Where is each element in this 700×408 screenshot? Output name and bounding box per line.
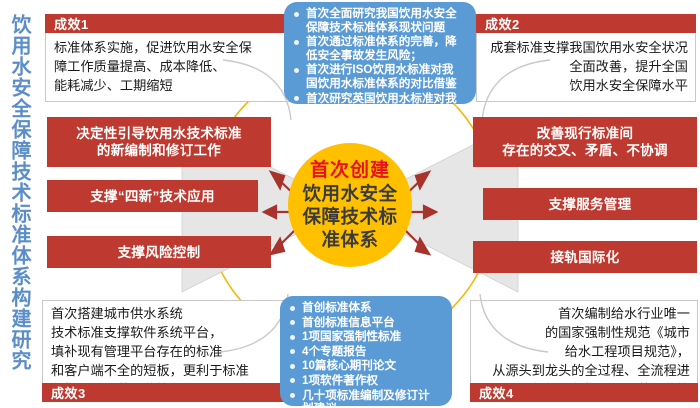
callout-1-text: 标准体系实施，促进饮用水安全保 障工作质量提高、成本降低、 能耗减少、工期缩短	[45, 36, 293, 97]
blue-panel-bottom-item-4: 4个专题报告	[286, 345, 446, 359]
page-title-vertical: 饮用水安全保障技术标准体系构建研究	[2, 14, 36, 396]
blue-panel-top: 首次全面研究我国饮用水安全 保障技术标准体系现状问题 首次通过标准体系的完善，降…	[284, 2, 476, 104]
blue-panel-bottom-item-5: 10篇核心期刊论文	[286, 359, 446, 373]
left-bar-1[interactable]: 决定性引导饮用水技术标准 的新编制和修订工作	[47, 117, 271, 167]
callout-1-header: 成效1	[45, 14, 293, 33]
left-bar-3[interactable]: 支撑风险控制	[47, 236, 271, 268]
callout-2-header: 成效2	[476, 14, 696, 33]
blue-panel-top-item-2: 首次通过标准体系的完善，降 低安全事故发生风险；	[290, 35, 470, 62]
blue-panel-bottom-item-6: 1项软件著作权	[286, 374, 446, 388]
blue-panel-top-list: 首次全面研究我国饮用水安全 保障技术标准体系现状问题 首次通过标准体系的完善，降…	[290, 7, 470, 119]
blue-panel-bottom: 首创标准体系 首创标准信息平台 1项国家强制性标准 4个专题报告 10篇核心期刊…	[280, 296, 452, 406]
blue-panel-bottom-item-1: 首创标准体系	[286, 301, 446, 315]
callout-result-2: 成效2 成套标准支撑我国饮用水安全状况 全面改善，提升全国 饮用水安全保障水平	[476, 14, 696, 102]
blue-panel-bottom-item-3: 1项国家强制性标准	[286, 330, 446, 344]
callout-2-text: 成套标准支撑我国饮用水安全状况 全面改善，提升全国 饮用水安全保障水平	[476, 36, 696, 97]
blue-panel-bottom-list: 首创标准体系 首创标准信息平台 1项国家强制性标准 4个专题报告 10篇核心期刊…	[286, 301, 446, 408]
blue-panel-bottom-item-2: 首创标准信息平台	[286, 316, 446, 330]
blue-panel-top-item-3: 首次进行ISO饮用水标准对我 国饮用水标准体系的对比借鉴	[290, 63, 470, 90]
center-circle-subtitle: 饮用水安全 保障技术标 准体系	[302, 182, 397, 251]
infographic-canvas: 饮用水安全保障技术标准体系构建研究 成效1 标准体系实施，促进饮用水安全保 障工…	[0, 0, 700, 408]
blue-panel-top-item-4: 首次研究英国饮用水标准对我 国饮用水标准体系的对比借鉴	[290, 92, 470, 119]
blue-panel-top-item-1: 首次全面研究我国饮用水安全 保障技术标准体系现状问题	[290, 7, 470, 34]
callout-result-1: 成效1 标准体系实施，促进饮用水安全保 障工作质量提高、成本降低、 能耗减少、工…	[45, 14, 293, 102]
right-bar-2[interactable]: 支撑服务管理	[483, 188, 697, 220]
callout-result-4: 首次编制给水行业唯一 的国家强制性规范《城市 给水工程项目规范》， 从源头到龙头…	[470, 300, 698, 402]
right-bar-3[interactable]: 接轨国际化	[473, 241, 697, 273]
callout-result-3: 首次搭建城市供水系统 技术标准支撑软件系统平台， 填补现有管理平台存在的标准 和…	[42, 300, 290, 402]
callout-4-header: 成效4	[470, 383, 698, 402]
callout-3-header: 成效3	[42, 383, 290, 402]
left-bar-2[interactable]: 支撑“四新”技术应用	[47, 180, 258, 212]
center-circle: 首次创建 饮用水安全 保障技术标 准体系	[288, 143, 412, 267]
blue-panel-bottom-item-7: 几十项标准编制及修订计 划建议	[286, 389, 446, 408]
right-bar-1[interactable]: 改善现行标准间 存在的交叉、矛盾、不协调	[473, 117, 697, 167]
center-circle-title: 首次创建	[310, 159, 390, 182]
